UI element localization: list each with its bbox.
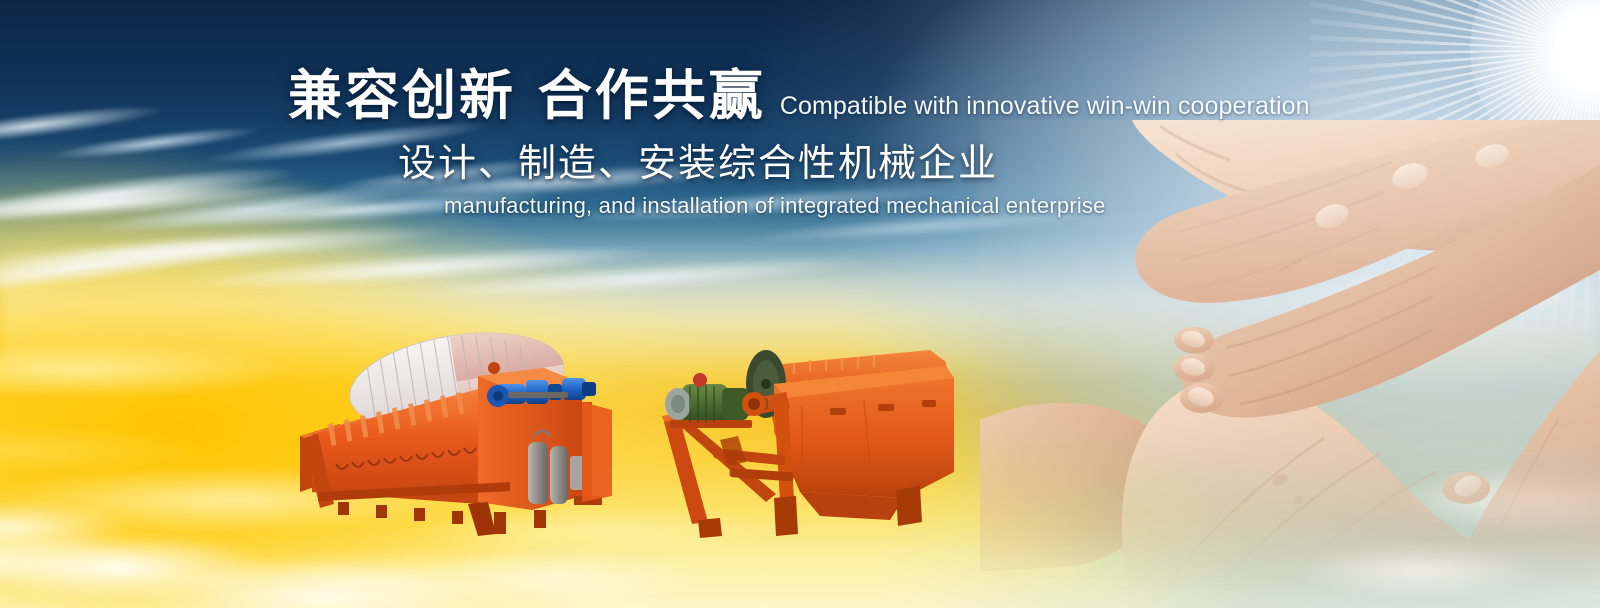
hero-banner: 兼容创新 合作共赢 Compatible with innovative win… [0,0,1600,608]
ceramic-disc-filter-machine [282,306,632,556]
magnetic-separator-machine [634,322,974,540]
headline-chinese: 兼容创新 合作共赢 [288,66,766,126]
hero-text-block: 兼容创新 合作共赢 Compatible with innovative win… [288,66,1208,219]
headline-english: Compatible with innovative win-win coope… [780,92,1310,126]
headline-row: 兼容创新 合作共赢 Compatible with innovative win… [288,66,1208,126]
subheadline-english: manufacturing, and installation of integ… [444,193,1208,219]
subheadline-chinese: 设计、制造、安装综合性机械企业 [398,132,1208,187]
